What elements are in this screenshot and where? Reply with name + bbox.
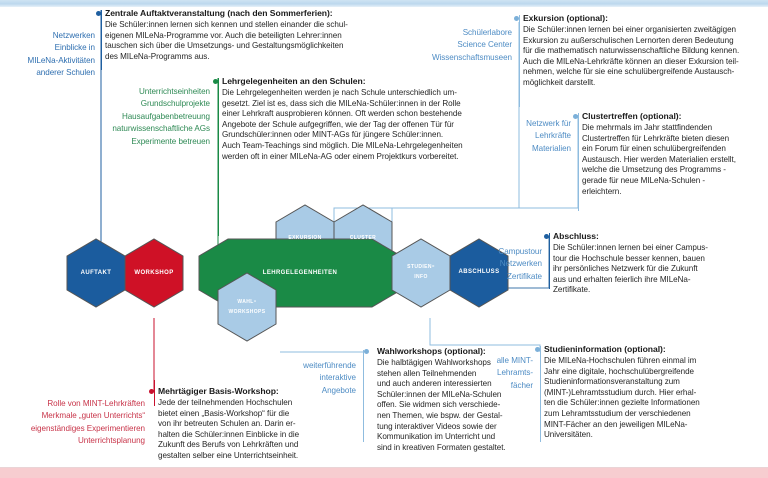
block-heading-abschluss: Abschluss:	[553, 231, 767, 242]
block-cluster: Clustertreffen (optional): Die mehrmals …	[582, 111, 768, 197]
block-heading-cluster: Clustertreffen (optional):	[582, 111, 768, 122]
block-body-auftakt: Die Schüler:innen lernen sich kennen und…	[105, 20, 455, 62]
block-abschluss: Abschluss: Die Schüler:innen lernen bei …	[553, 231, 767, 296]
bullet-dot-cluster	[573, 114, 578, 119]
block-body-abschluss: Die Schüler:innen lernen bei einer Campu…	[553, 243, 767, 296]
bullet-dot-auftakt	[96, 11, 101, 16]
keywords-workshop: Rolle von MINT-Lehrkräften Merkmale „gut…	[5, 398, 145, 448]
block-exkursion: Exkursion (optional): Die Schüler:innen …	[523, 13, 767, 89]
block-workshop: Mehrtägiger Basis-Workshop: Jede der tei…	[158, 386, 368, 462]
bullet-dot-workshop	[149, 389, 154, 394]
bullet-dot-abschluss	[544, 234, 549, 239]
keywords-lehrgelegenheiten: Unterrichtseinheiten Grundschulprojekte …	[98, 86, 210, 148]
block-studieninfo: Studieninformation (optional): Die MILeN…	[544, 344, 768, 441]
block-body-wahlworkshops: Die halbtägigen Wahlworkshops stehen all…	[377, 358, 567, 453]
infographic-canvas: Auftakt Workshop Lehrgelegenheiten Exkur…	[0, 0, 768, 478]
hexagon-workshop	[125, 239, 183, 307]
bullet-dot-lehrgelegenheiten	[213, 79, 218, 84]
block-body-exkursion: Die Schüler:innen lernen bei einer organ…	[523, 25, 767, 89]
keywords-abschluss: Campustour Netzwerken Zertifikate	[462, 246, 542, 283]
block-heading-studieninfo: Studieninformation (optional):	[544, 344, 768, 355]
keywords-auftakt: Netzwerken Einblicke in MILeNa-Aktivität…	[5, 30, 95, 80]
rule-auftakt	[101, 10, 102, 70]
block-body-lehrgelegenheiten: Die Lehrgelegenheiten werden je nach Sch…	[222, 88, 590, 162]
block-body-studieninfo: Die MILeNa-Hochschulen führen einmal im …	[544, 356, 768, 441]
rule-lehrgelegenheiten	[218, 78, 219, 236]
bullet-dot-exkursion	[514, 16, 519, 21]
block-auftakt: Zentrale Auftaktveranstaltung (nach den …	[105, 8, 455, 62]
rule-abschluss	[549, 233, 550, 289]
block-heading-workshop: Mehrtägiger Basis-Workshop:	[158, 386, 368, 397]
rule-workshop	[154, 380, 155, 406]
hexagon-auftakt	[67, 239, 125, 307]
block-body-cluster: Die mehrmals im Jahr stattfindenden Clus…	[582, 123, 768, 197]
block-heading-exkursion: Exkursion (optional):	[523, 13, 767, 24]
bottom-decorative-bar	[0, 468, 768, 478]
block-lehrgelegenheiten: Lehrgelegenheiten an den Schulen: Die Le…	[222, 76, 590, 162]
block-body-workshop: Jede der teilnehmenden Hochschulen biete…	[158, 398, 368, 462]
hexagon-studien-info	[392, 239, 450, 307]
bullet-dot-wahlworkshops	[364, 349, 369, 354]
block-heading-wahlworkshops: Wahlworkshops (optional):	[377, 346, 567, 357]
block-heading-auftakt: Zentrale Auftaktveranstaltung (nach den …	[105, 8, 455, 19]
block-wahlworkshops: Wahlworkshops (optional): Die halbtägige…	[377, 346, 567, 453]
